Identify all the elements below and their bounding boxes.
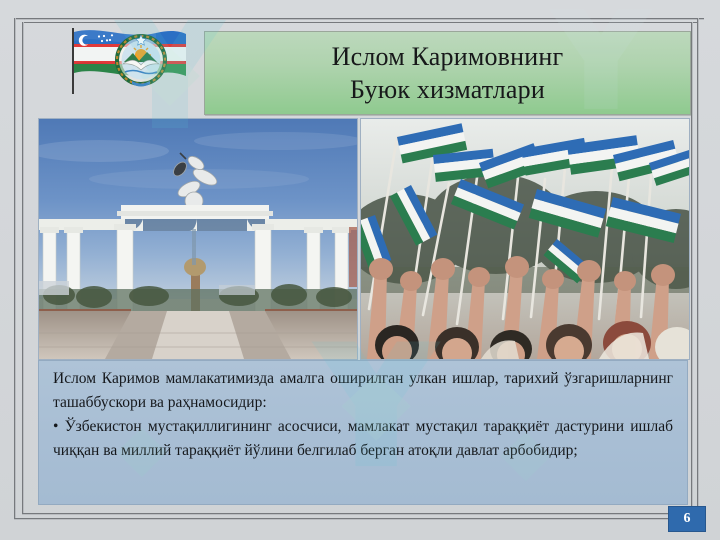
- uzbekistan-flag-emblem-icon: [58, 24, 188, 96]
- frame-rule-top-second: [22, 22, 697, 23]
- photo-crowd-waving-flags: [360, 118, 690, 360]
- frame-rule-left-inner-hl: [23, 22, 24, 514]
- frame-rule-bottom-inner-hl: [22, 514, 697, 515]
- slide-number-badge: 6: [668, 506, 706, 532]
- slide-title-box: Ислом Каримовнинг Буюк хизматлари: [204, 31, 691, 115]
- frame-rule-bottom-outer-hl: [14, 519, 704, 520]
- body-text-panel: Ислом Каримов мамлакатимизда амалга ошир…: [38, 360, 688, 505]
- photo-row: [38, 118, 688, 358]
- body-paragraph-1: Ислом Каримов мамлакатимизда амалга ошир…: [53, 367, 673, 415]
- presentation-slide: Ислом Каримовнинг Буюк хизматлари: [0, 0, 720, 540]
- body-paragraph-2-text: Ўзбекистон мустақиллигининг асосчиси, ма…: [53, 418, 673, 459]
- photo-independence-square-arch: [38, 118, 358, 360]
- page-title-line-1: Ислом Каримовнинг: [332, 40, 564, 73]
- frame-rule-right-inner-hl: [692, 22, 693, 514]
- body-paragraph-2: • Ўзбекистон мустақиллигининг асосчиси, …: [53, 415, 673, 463]
- frame-rule-right-outer-hl: [698, 18, 699, 518]
- bullet-marker: •: [53, 418, 65, 435]
- frame-rule-left-outer-hl: [15, 18, 16, 518]
- frame-rule-top-inner: [14, 19, 704, 20]
- page-title-line-2: Буюк хизматлари: [350, 73, 545, 106]
